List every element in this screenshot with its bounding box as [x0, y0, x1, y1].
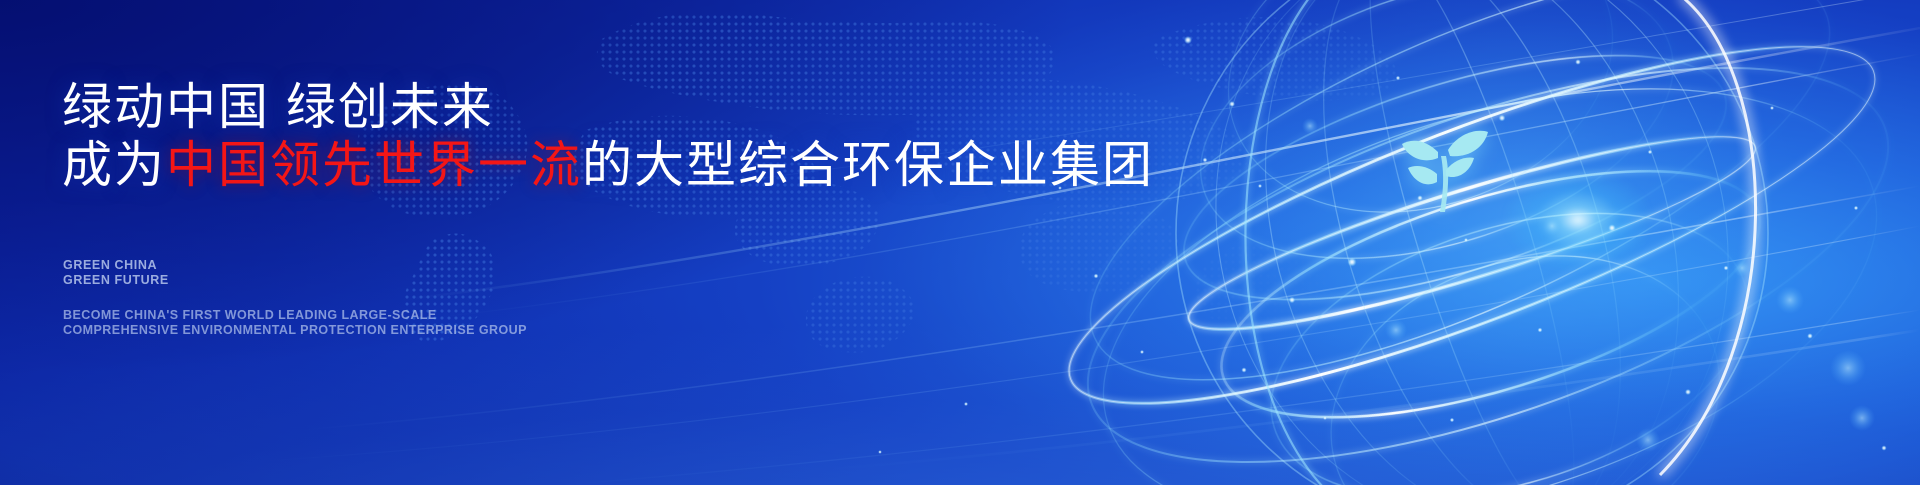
vignette-overlay: [0, 0, 1920, 485]
promotional-banner: 绿动中国 绿创未来 成为中国领先世界一流的大型综合环保企业集团 GREEN CH…: [0, 0, 1920, 485]
